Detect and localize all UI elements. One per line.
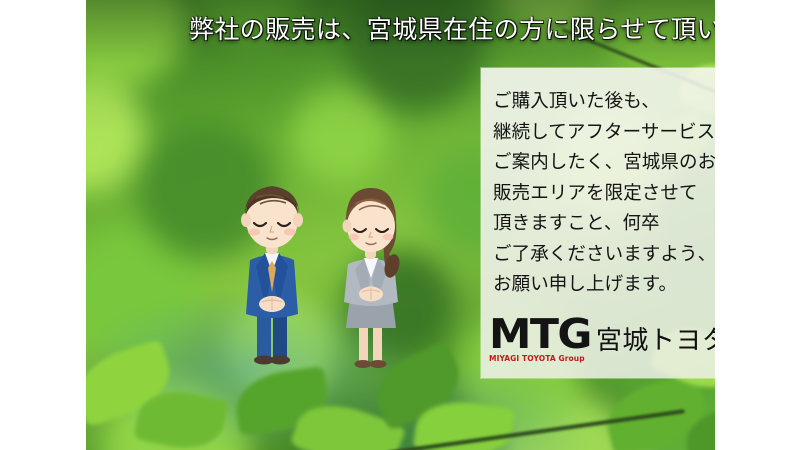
message-line: ご了承くださいますよう、 <box>493 239 715 270</box>
businessman-figure <box>241 186 303 365</box>
mtg-logo: MTG MIYAGI TOYOTA Group 宮城トヨタ自動車 <box>489 316 715 362</box>
message-body: ご購入頂いた後も、 継続してアフターサービスを ご案内したく、宮城県のお客様に … <box>493 86 715 300</box>
bowing-people-illustration <box>226 168 436 383</box>
businesswoman-figure <box>343 188 403 368</box>
mtg-logo-mark: MTG MIYAGI TOYOTA Group <box>489 316 587 362</box>
foliage-background-photo: 弊社の販売は、宮城県在住の方に限らせて頂いております。 <box>86 0 715 450</box>
mtg-logo-letters: MTG <box>489 316 591 352</box>
message-line: 継続してアフターサービスを <box>493 117 715 148</box>
message-line: ご購入頂いた後も、 <box>493 86 715 117</box>
company-name-japanese: 宮城トヨタ自動車 <box>596 320 715 362</box>
message-line: お願い申し上げます。 <box>493 269 715 300</box>
headline-text: 弊社の販売は、宮城県在住の方に限らせて頂いております。 <box>189 14 715 46</box>
message-line: ご案内したく、宮城県のお客様に <box>493 147 715 178</box>
message-line: 頂きますこと、何卒 <box>493 208 715 239</box>
slide-canvas: 弊社の販売は、宮城県在住の方に限らせて頂いております。 <box>0 0 800 450</box>
message-line: 販売エリアを限定させて <box>493 178 715 209</box>
message-panel: ご購入頂いた後も、 継続してアフターサービスを ご案内したく、宮城県のお客様に … <box>481 68 715 378</box>
people-svg <box>226 168 436 383</box>
